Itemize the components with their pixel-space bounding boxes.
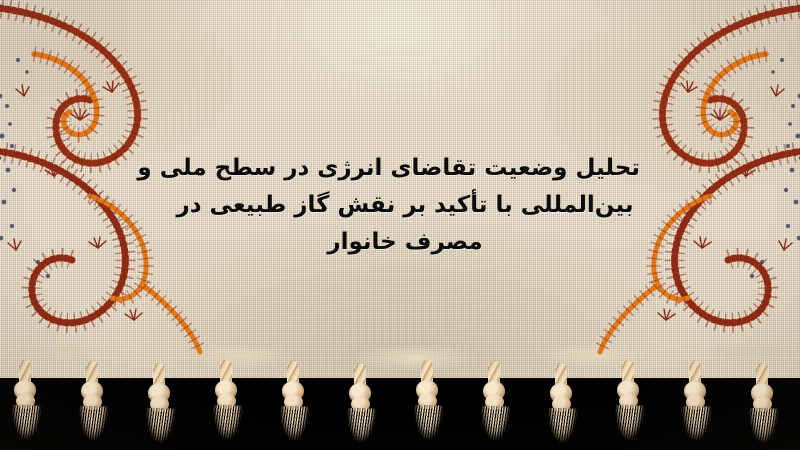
tassel bbox=[410, 360, 444, 446]
tassel bbox=[745, 363, 779, 449]
title-line-2: بین‌المللی با تأکید بر نقش گاز طبیعی در bbox=[170, 187, 640, 224]
tassel-fringe bbox=[0, 360, 800, 450]
slide-title: تحلیل وضعیت تقاضای انرژی در سطح ملی و بی… bbox=[170, 150, 640, 261]
tassel-skirt bbox=[679, 405, 711, 448]
tassel-skirt bbox=[210, 404, 242, 447]
tassel bbox=[75, 361, 109, 447]
tassel bbox=[477, 361, 511, 447]
slide-canvas: تحلیل وضعیت تقاضای انرژی در سطح ملی و بی… bbox=[0, 0, 800, 450]
tassel bbox=[611, 360, 645, 446]
tassel-skirt bbox=[612, 404, 644, 447]
tassel-skirt bbox=[277, 405, 309, 448]
tassel bbox=[343, 363, 377, 449]
tassel bbox=[8, 360, 42, 446]
title-line-1: تحلیل وضعیت تقاضای انرژی در سطح ملی و bbox=[170, 150, 640, 187]
tassel bbox=[276, 361, 310, 447]
tassel-skirt bbox=[344, 407, 376, 450]
tassel bbox=[209, 360, 243, 446]
tassel bbox=[142, 363, 176, 449]
tassel-skirt bbox=[545, 407, 577, 450]
tassel-skirt bbox=[9, 404, 41, 447]
tassel-skirt bbox=[478, 405, 510, 448]
tassel-skirt bbox=[76, 405, 108, 448]
tassel-skirt bbox=[411, 404, 443, 447]
tassel-skirt bbox=[143, 407, 175, 450]
tassel bbox=[678, 361, 712, 447]
title-line-3: مصرف خانوار bbox=[170, 224, 640, 261]
tassel bbox=[544, 363, 578, 449]
tassel-skirt bbox=[746, 407, 778, 450]
